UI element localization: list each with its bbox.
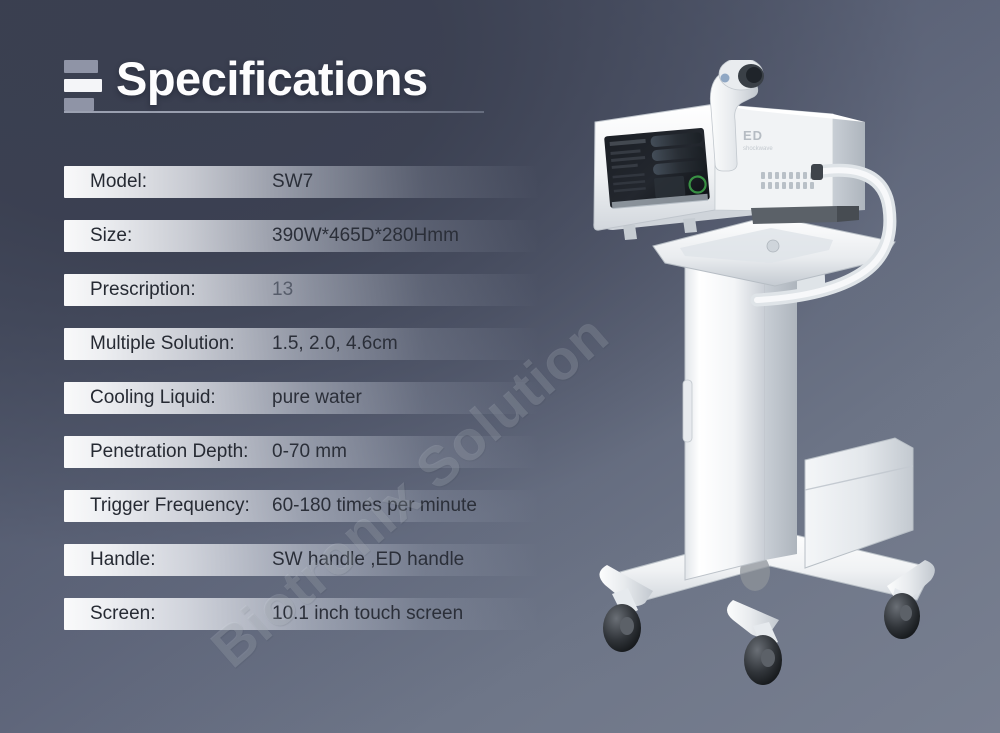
spec-row-size: Size: 390W*465D*280Hmm <box>64 220 584 252</box>
svg-text:shockwave: shockwave <box>743 146 773 152</box>
spec-value: 1.5, 2.0, 4.6cm <box>272 333 398 355</box>
spec-label: Screen: <box>64 603 272 625</box>
spec-label: Penetration Depth: <box>64 441 272 463</box>
spec-value: SW7 <box>272 171 313 193</box>
specifications-list: Model: SW7 Size: 390W*465D*280Hmm Prescr… <box>64 166 584 652</box>
hamburger-bar-bottom <box>64 98 94 111</box>
spec-value: SW handle ,ED handle <box>272 549 464 571</box>
spec-value: 390W*465D*280Hmm <box>272 225 459 247</box>
spec-row-penetration-depth: Penetration Depth: 0-70 mm <box>64 436 584 468</box>
page-header: Specifications <box>64 52 494 113</box>
trolley-basket <box>805 438 913 568</box>
trolley-column <box>683 236 825 580</box>
spec-row-multiple-solution: Multiple Solution: 1.5, 2.0, 4.6cm <box>64 328 584 360</box>
product-image: ED shockwave <box>565 60 985 700</box>
svg-text:ED: ED <box>743 128 763 143</box>
spec-row-cooling-liquid: Cooling Liquid: pure water <box>64 382 584 414</box>
title-underline-divider <box>64 111 484 113</box>
spec-value: 10.1 inch touch screen <box>272 603 463 625</box>
spec-row-model: Model: SW7 <box>64 166 584 198</box>
hamburger-bars-icon <box>64 60 104 116</box>
spec-value: 13 <box>272 279 293 301</box>
spec-value: pure water <box>272 387 362 409</box>
hamburger-bar-top <box>64 60 98 73</box>
spec-label: Prescription: <box>64 279 272 301</box>
spec-row-screen: Screen: 10.1 inch touch screen <box>64 598 584 630</box>
spec-label: Multiple Solution: <box>64 333 272 355</box>
spec-label: Size: <box>64 225 272 247</box>
spec-label: Model: <box>64 171 272 193</box>
hamburger-bar-middle <box>64 79 102 92</box>
spec-label: Handle: <box>64 549 272 571</box>
spec-row-prescription: Prescription: 13 <box>64 274 584 306</box>
spec-row-trigger-frequency: Trigger Frequency: 60-180 times per minu… <box>64 490 584 522</box>
spec-row-handle: Handle: SW handle ,ED handle <box>64 544 584 576</box>
spec-value: 0-70 mm <box>272 441 347 463</box>
page-title: Specifications <box>116 52 494 106</box>
spec-label: Cooling Liquid: <box>64 387 272 409</box>
spec-label: Trigger Frequency: <box>64 495 272 517</box>
spec-value: 60-180 times per minute <box>272 495 477 517</box>
